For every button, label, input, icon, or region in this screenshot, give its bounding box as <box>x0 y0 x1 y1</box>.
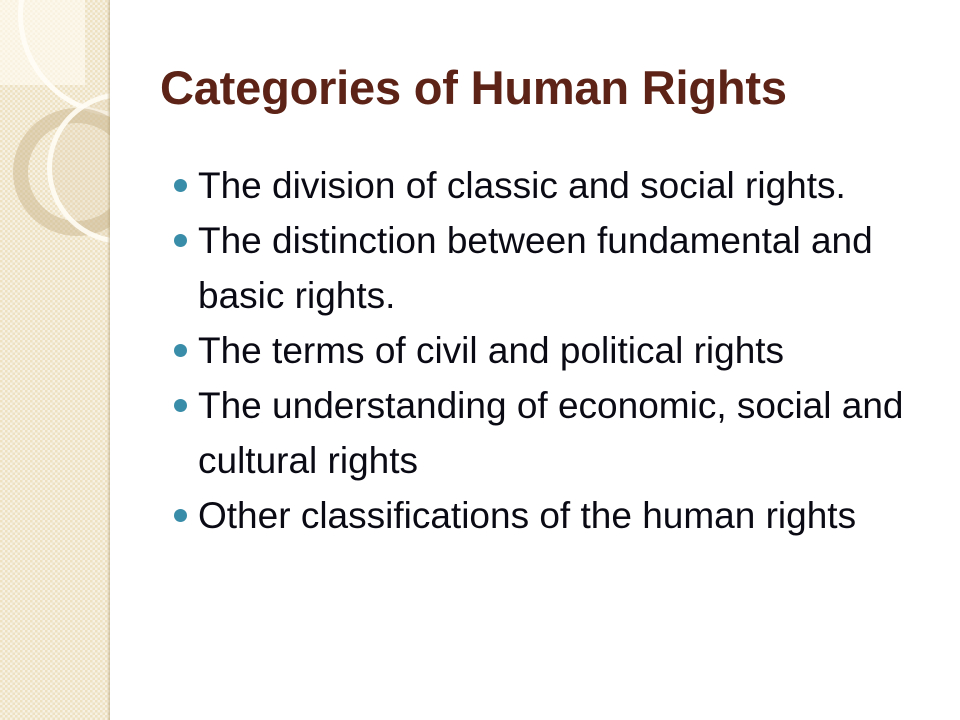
list-item: The understanding of economic, social an… <box>168 378 946 488</box>
list-item: The terms of civil and political rights <box>168 323 946 378</box>
slide-canvas: Categories of Human Rights The division … <box>0 0 960 720</box>
side-band-edge-divider <box>107 0 110 720</box>
list-item: Other classifications of the human right… <box>168 488 946 543</box>
list-item-text: The terms of civil and political rights <box>198 323 946 378</box>
list-item-text: The distinction between fundamental and … <box>198 213 946 323</box>
bullet-dot-icon <box>174 399 187 412</box>
list-item-text: The understanding of economic, social an… <box>198 378 946 488</box>
list-item-text: The division of classic and social right… <box>198 158 946 213</box>
list-item: The distinction between fundamental and … <box>168 213 946 323</box>
list-item: The division of classic and social right… <box>168 158 946 213</box>
bullet-dot-icon <box>174 344 187 357</box>
bullet-dot-icon <box>174 179 187 192</box>
slide-title: Categories of Human Rights <box>160 60 930 116</box>
bullet-list: The division of classic and social right… <box>168 158 946 543</box>
bullet-dot-icon <box>174 234 187 247</box>
bullet-dot-icon <box>174 509 187 522</box>
decorative-side-band <box>0 0 110 720</box>
list-item-text: Other classifications of the human right… <box>198 488 946 543</box>
